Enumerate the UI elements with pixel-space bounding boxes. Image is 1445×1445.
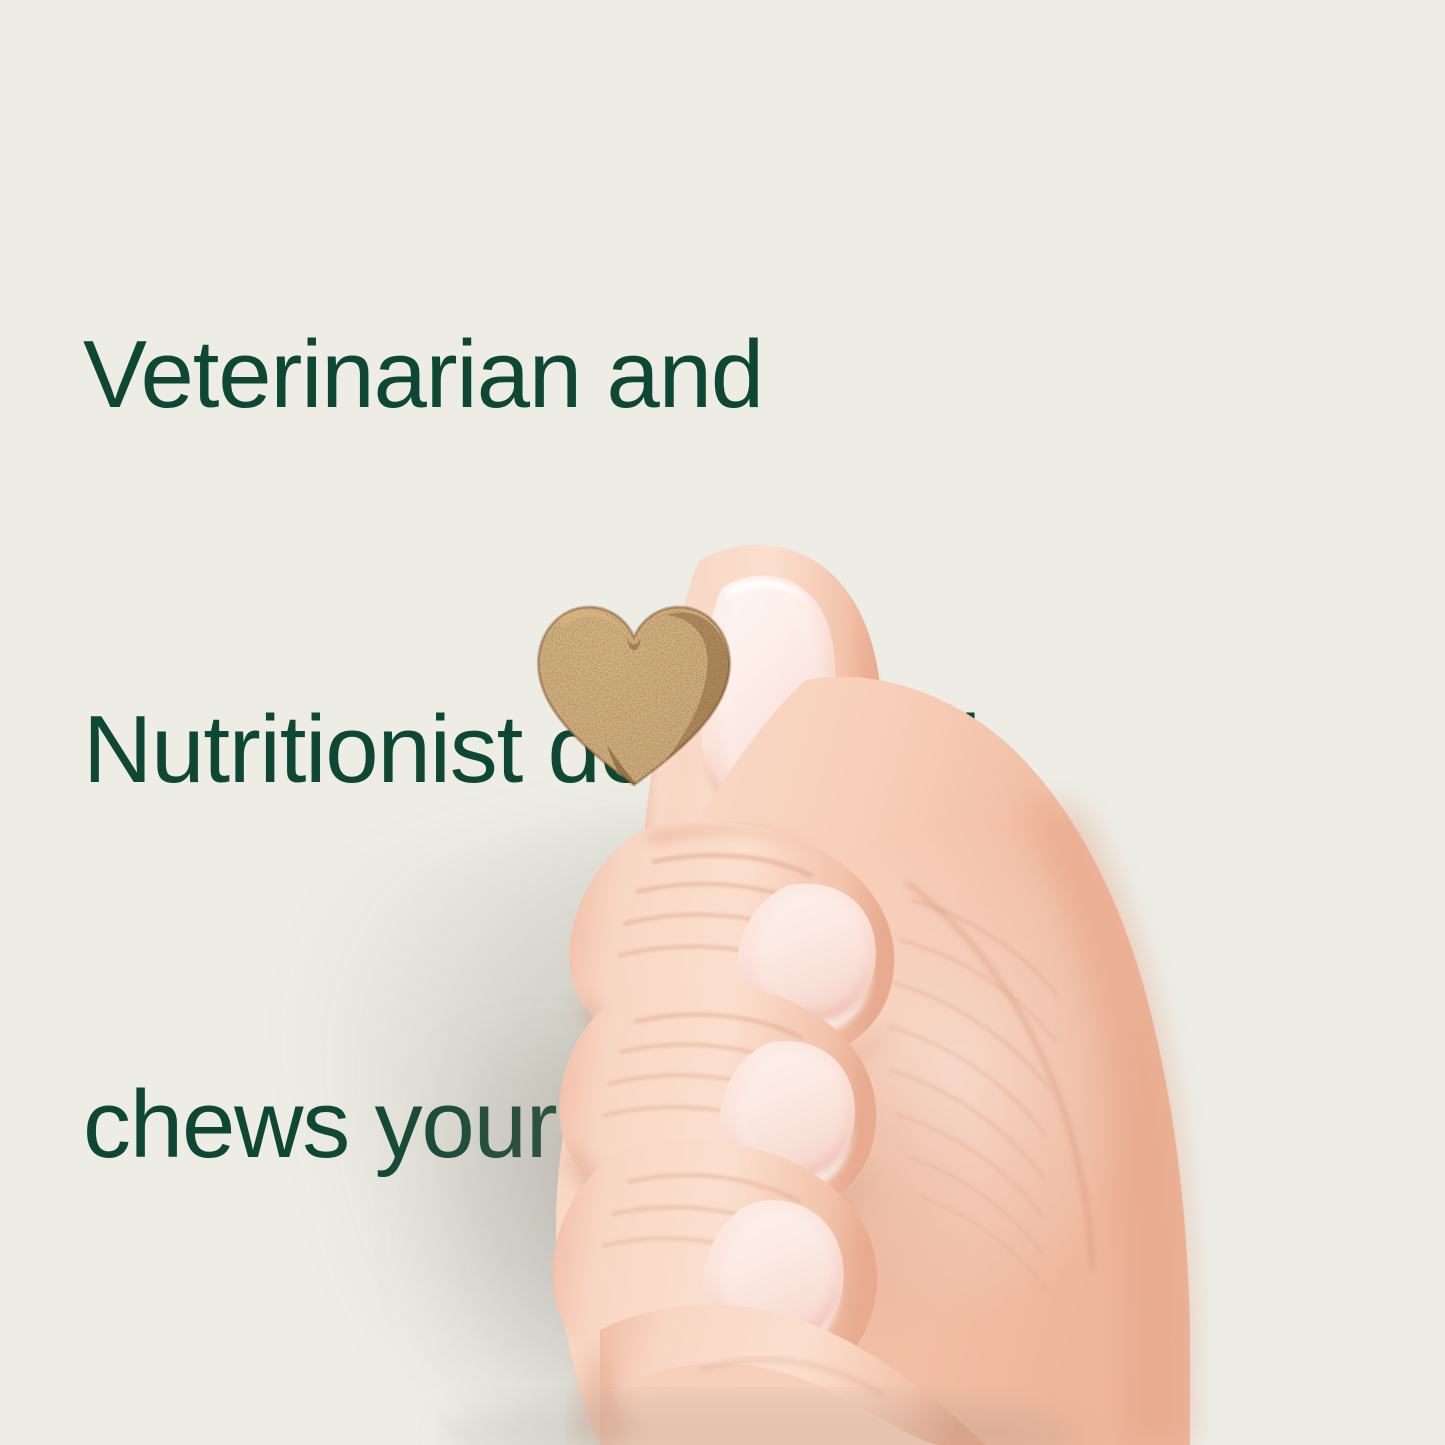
hand-illustration xyxy=(0,430,1445,1445)
promo-banner: Veterinarian and Nutritionist developed … xyxy=(0,0,1445,1445)
heart-shaped-dog-chew xyxy=(527,585,742,800)
headline-line-1: Veterinarian and xyxy=(83,312,1283,437)
product-photo xyxy=(0,430,1445,1445)
